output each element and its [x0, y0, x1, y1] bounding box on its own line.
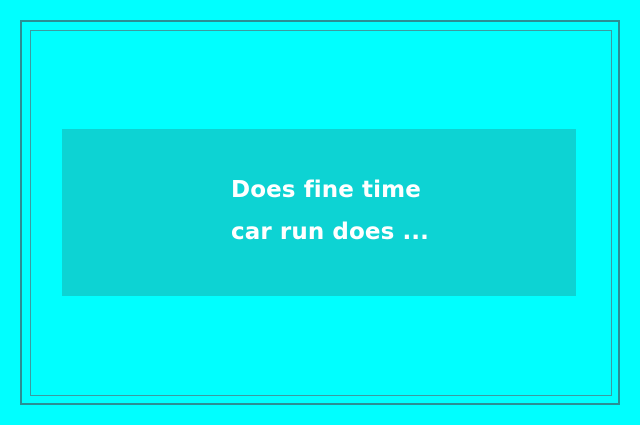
banner-text-block: Does fine time car run does ...	[231, 169, 551, 253]
text-banner: Does fine time car run does ...	[62, 129, 576, 296]
banner-line-1: Does fine time	[231, 169, 551, 211]
banner-line-2: car run does ...	[231, 211, 551, 253]
card-canvas: Does fine time car run does ...	[0, 0, 640, 425]
